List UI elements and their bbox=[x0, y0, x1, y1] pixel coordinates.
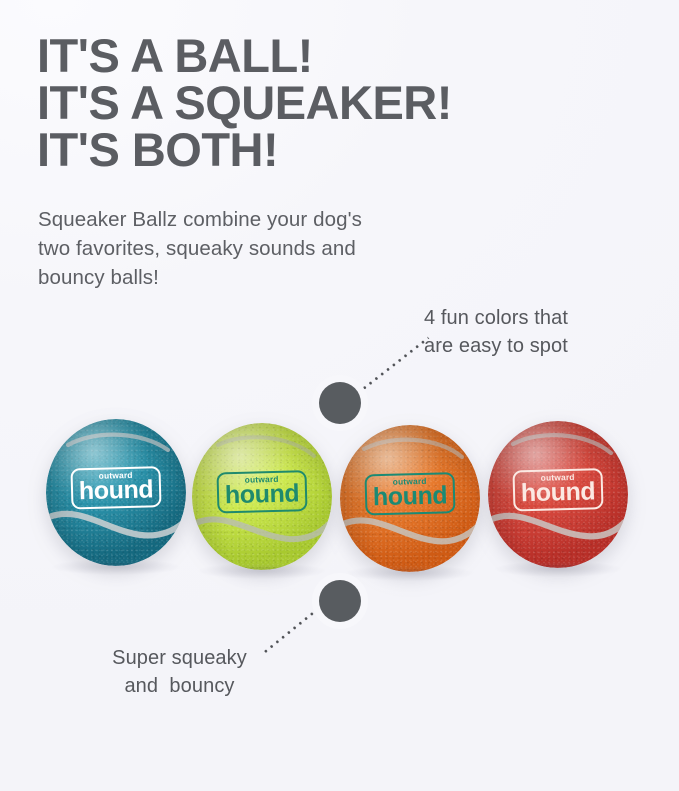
logo-hound-text: hound bbox=[367, 484, 454, 511]
ball-orange-contact-shadow bbox=[346, 565, 474, 581]
ball-blue-contact-shadow bbox=[52, 559, 180, 575]
headline-line-1: IT'S A BALL! bbox=[37, 32, 637, 79]
product-description: Squeaker Ballz combine your dog's two fa… bbox=[38, 205, 458, 292]
logo-hound-text: hound bbox=[219, 482, 306, 509]
logo-hound-text: hound bbox=[73, 478, 160, 505]
product-ball-row: outward hound outward hound bbox=[0, 419, 679, 569]
ball-orange: outward hound bbox=[340, 425, 480, 572]
ball-green-contact-shadow bbox=[198, 563, 326, 579]
ball-blue-logo: outward hound bbox=[70, 466, 161, 510]
description-line-2: two favorites, squeaky sounds and bbox=[38, 234, 458, 263]
callout-label-colors: 4 fun colors that are easy to spot bbox=[424, 304, 568, 360]
headline-line-2: IT'S A SQUEAKER! bbox=[37, 79, 637, 126]
page-title: IT'S A BALL! IT'S A SQUEAKER! IT'S BOTH! bbox=[37, 32, 637, 173]
callout-dot-colors bbox=[319, 382, 361, 424]
ball-red: outward hound bbox=[488, 421, 628, 568]
callout-label-squeaky: Super squeaky and bouncy bbox=[92, 644, 267, 700]
infographic-canvas: IT'S A BALL! IT'S A SQUEAKER! IT'S BOTH!… bbox=[0, 0, 679, 791]
ball-red-contact-shadow bbox=[494, 561, 622, 577]
callout-dot-squeaky bbox=[319, 580, 361, 622]
logo-hound-text: hound bbox=[515, 480, 602, 507]
description-line-3: bouncy balls! bbox=[38, 263, 458, 292]
ball-green-logo: outward hound bbox=[216, 470, 307, 514]
callout-colors-line-1: 4 fun colors that bbox=[424, 304, 568, 332]
ball-orange-logo: outward hound bbox=[364, 472, 455, 516]
headline-line-3: IT'S BOTH! bbox=[37, 126, 637, 173]
ball-green: outward hound bbox=[192, 423, 332, 570]
callout-colors-line-2: are easy to spot bbox=[424, 332, 568, 360]
description-line-1: Squeaker Ballz combine your dog's bbox=[38, 205, 458, 234]
ball-blue: outward hound bbox=[46, 419, 186, 566]
ball-red-logo: outward hound bbox=[512, 468, 603, 512]
callout-squeaky-line-2: and bouncy bbox=[92, 672, 267, 700]
callout-squeaky-line-1: Super squeaky bbox=[92, 644, 267, 672]
leader-line-colors bbox=[355, 337, 429, 396]
